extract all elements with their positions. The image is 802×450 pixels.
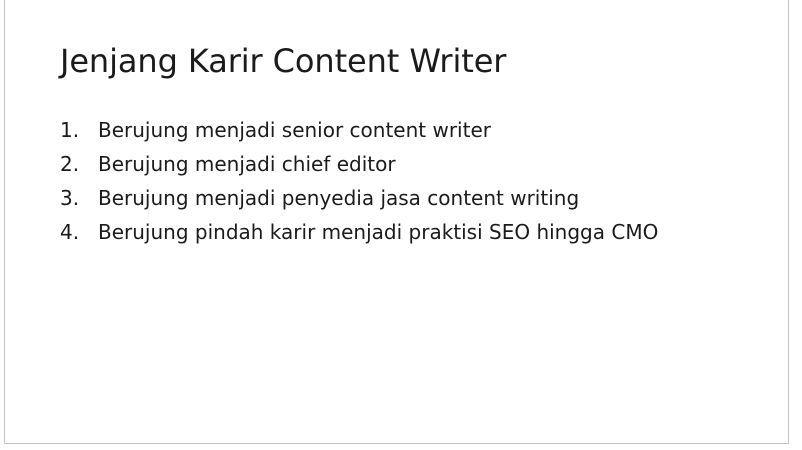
list-item: 3. Berujung menjadi penyedia jasa conten… (60, 185, 760, 219)
list-item-marker: 2. (60, 151, 98, 177)
numbered-list: 1. Berujung menjadi senior content write… (60, 117, 760, 253)
list-item: 1. Berujung menjadi senior content write… (60, 117, 760, 151)
list-item-label: Berujung pindah karir menjadi praktisi S… (98, 219, 658, 245)
list-item-marker: 3. (60, 185, 98, 211)
list-item-marker: 4. (60, 219, 98, 245)
list-item-label: Berujung menjadi chief editor (98, 151, 396, 177)
list-item-marker: 1. (60, 117, 98, 143)
list-item: 4. Berujung pindah karir menjadi praktis… (60, 219, 760, 253)
page-title: Jenjang Karir Content Writer (60, 42, 506, 80)
slide-canvas: Jenjang Karir Content Writer 1. Berujung… (4, 0, 789, 444)
list-item-label: Berujung menjadi senior content writer (98, 117, 491, 143)
list-item-label: Berujung menjadi penyedia jasa content w… (98, 185, 579, 211)
list-item: 2. Berujung menjadi chief editor (60, 151, 760, 185)
